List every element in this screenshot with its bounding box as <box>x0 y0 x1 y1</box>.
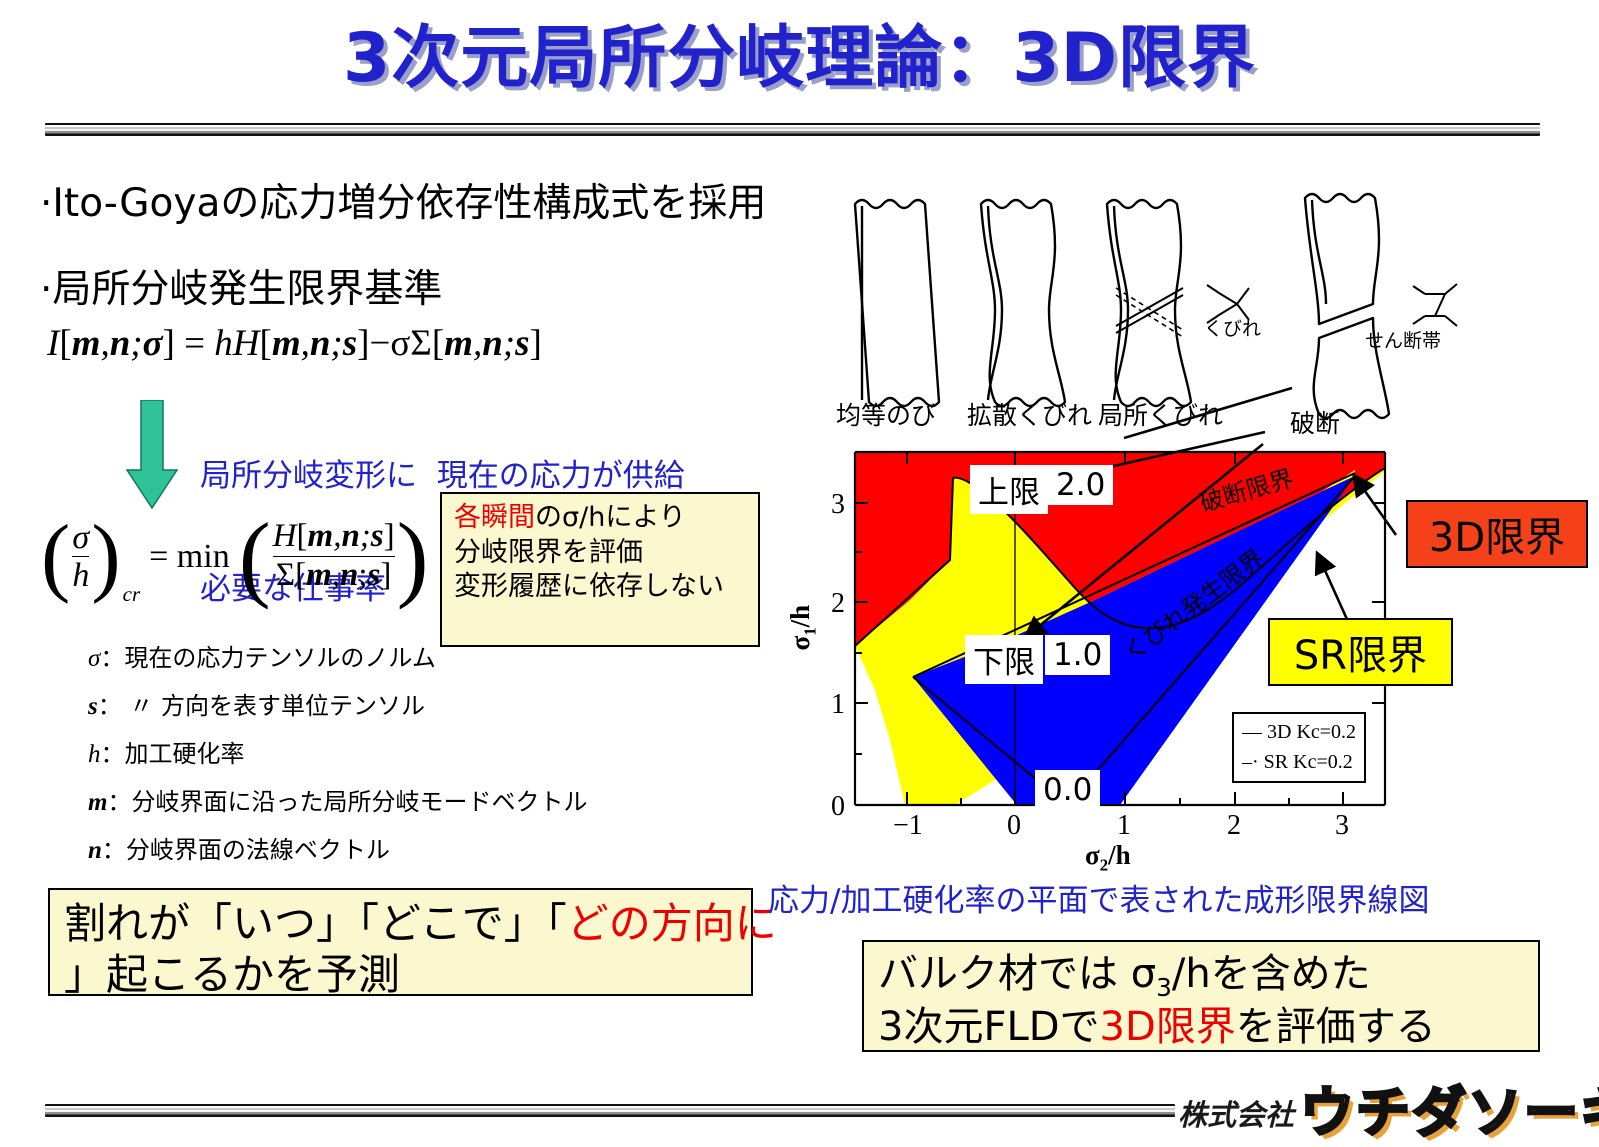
specimen-label-uniform: 均等のび <box>836 396 936 432</box>
br-line1b: /hを含めた <box>1172 951 1371 997</box>
min-formula-sub: cr <box>122 500 142 613</box>
bottom-left-callout: 割れが「いつ」「どこで」「どの方向に 」起こるかを予測 <box>48 888 753 996</box>
eq-h: h <box>214 323 233 364</box>
symbol-row: m：分岐界面に沿った局所分岐モードベクトル <box>88 782 587 817</box>
symbol-row: σ：現在の応力テンソルのノルム <box>88 638 587 673</box>
min-formula-eq: = min <box>141 500 238 613</box>
eq-lhs: I <box>47 323 59 364</box>
symbol-row: n：分岐界面の法線ベクトル <box>88 830 587 865</box>
br-line1a: バルク材では σ <box>878 951 1156 997</box>
chart-legend: — 3D Kc=0.2 –· SR Kc=0.2 <box>1232 712 1366 783</box>
note-line1-red: 各瞬間 <box>454 502 535 533</box>
ytick-label-2: 2 <box>831 588 845 620</box>
annotation-zero-value: 0.0 <box>1035 770 1100 810</box>
arrow-to-3d-limit <box>1355 477 1396 535</box>
symbol-glyph: h <box>88 741 101 768</box>
divider-bottom <box>45 1104 1175 1117</box>
divider-top <box>45 123 1540 136</box>
note-line1-rest: のσ/hにより <box>535 502 686 533</box>
inset-label-shearband: せん断帯 <box>1365 326 1441 353</box>
legend-entry: –· SR Kc=0.2 <box>1242 747 1356 777</box>
y-axis-label: σ1/h <box>785 605 820 651</box>
bottom-right-callout: バルク材では σ3/hを含めた 3次元FLDで3D限界を評価する <box>862 940 1540 1052</box>
criterion-equation: I[m,n;σ] = hH[m,n;s]−σΣ[m,n;s] <box>47 322 542 365</box>
symbol-row: s： 〃 方向を表す単位テンソル <box>88 686 587 721</box>
ytick-label-0: 0 <box>831 791 845 823</box>
br-line2b: を評価する <box>1236 1004 1436 1050</box>
symbol-text: ：分岐界面の法線ベクトル <box>102 836 390 864</box>
note-line2: 分岐限界を評価 <box>454 536 748 571</box>
legend-label: 3D Kc=0.2 <box>1267 721 1356 743</box>
min-formula: ( σ h ) cr = min ( H[m,n;s] Σ[m,n;s] ) <box>40 500 430 613</box>
x-axis-label: σ2/h <box>1085 840 1131 875</box>
note-callout-box: 各瞬間のσ/hにより 分岐限界を評価 変形履歴に依存しない <box>440 492 760 647</box>
bullet-item-2: ·局所分岐発生限界基準 <box>40 258 442 314</box>
xtick-label-3: 3 <box>1335 810 1349 842</box>
inset-label-kubire: くびれ <box>1204 314 1261 341</box>
min-formula-lhs-num: σ <box>72 519 89 556</box>
annotation-upper-value: 2.0 <box>1048 465 1113 505</box>
page-title: 3次元局所分岐理論：3D限界 <box>0 2 1599 101</box>
legend-swatch-solid: — <box>1242 721 1267 743</box>
symbol-glyph: n <box>88 837 102 864</box>
symbol-definitions: σ：現在の応力テンソルのノルム s： 〃 方向を表す単位テンソル h：加工硬化率… <box>88 638 587 865</box>
footer-company-name: 株式会社 <box>1178 1092 1294 1134</box>
min-formula-lhs-den: h <box>72 557 89 594</box>
br-line1sub: 3 <box>1156 973 1172 1002</box>
tag-3d-limit[interactable]: 3D限界 <box>1406 500 1588 568</box>
bl-part1: 割れが「いつ」「どこで」「 <box>64 899 567 948</box>
symbol-glyph: s <box>88 693 98 720</box>
legend-label: SR Kc=0.2 <box>1264 751 1353 773</box>
symbol-text: ：分岐界面に沿った局所分岐モードベクトル <box>107 788 587 816</box>
blue-annotation-line-1: 局所分岐変形に 現在の応力が供給 <box>200 458 685 496</box>
symbol-glyph: σ <box>88 645 100 672</box>
xtick-label-2: 2 <box>1227 810 1241 842</box>
bl-part2: どの方向に <box>567 899 777 948</box>
ytick-label-1: 1 <box>831 689 845 721</box>
note-line3: 変形履歴に依存しない <box>454 570 748 605</box>
symbol-text: ： 〃 方向を表す単位テンソル <box>98 692 425 720</box>
legend-swatch-dashed: –· <box>1242 751 1264 773</box>
symbol-glyph: m <box>88 789 107 816</box>
tag-sr-limit[interactable]: SR限界 <box>1268 618 1453 686</box>
annotation-upper-label: 上限 <box>970 465 1048 514</box>
br-line2a: 3次元FLDで <box>878 1004 1100 1050</box>
eq-H: H <box>233 323 260 364</box>
br-line2red: 3D限界 <box>1100 1004 1236 1050</box>
footer-logo: ウチダソーキ <box>1300 1068 1599 1147</box>
xtick-label-0: 0 <box>1007 810 1021 842</box>
annotation-lower-label: 下限 <box>965 635 1043 684</box>
xtick-label-neg1: −1 <box>893 810 923 842</box>
chart-caption: 応力/加工硬化率の平面で表された成形限界線図 <box>768 875 1429 920</box>
bl-part3: 」起こるかを予測 <box>64 949 737 1000</box>
xtick-label-1: 1 <box>1117 810 1131 842</box>
legend-entry: — 3D Kc=0.2 <box>1242 717 1356 747</box>
bullet-item-1: ·Ito-Goyaの応力増分依存性構成式を採用 <box>40 172 766 228</box>
symbol-row: h：加工硬化率 <box>88 734 587 769</box>
ytick-label-3: 3 <box>831 489 845 521</box>
symbol-text: ：現在の応力テンソルのノルム <box>100 644 436 672</box>
annotation-lower-value: 1.0 <box>1045 635 1110 675</box>
symbol-text: ：加工硬化率 <box>101 740 245 768</box>
down-arrow-icon <box>126 400 178 510</box>
